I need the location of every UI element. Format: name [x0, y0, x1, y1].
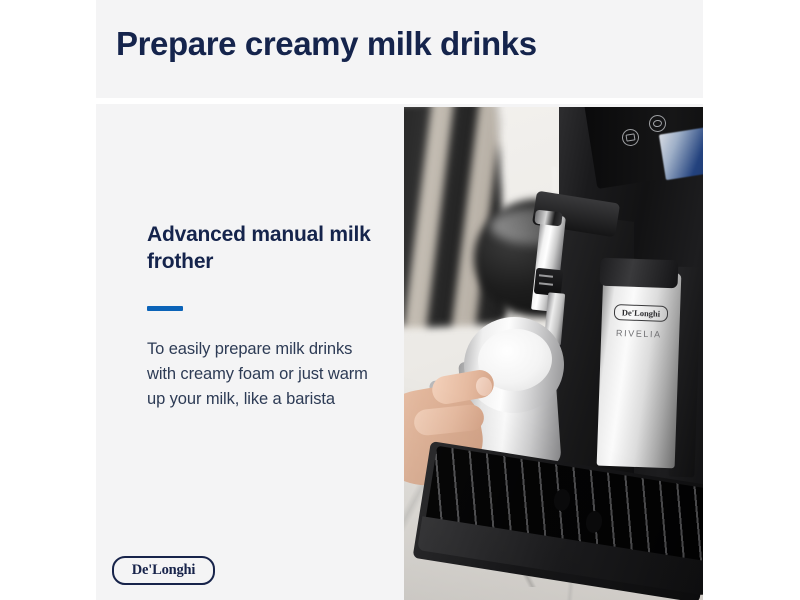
- feature-description: To easily prepare milk drinks with cream…: [147, 337, 382, 412]
- promo-page: Prepare creamy milk drinks Advanced manu…: [0, 0, 800, 600]
- milk-carafe: [597, 271, 682, 469]
- header-band: Prepare creamy milk drinks: [96, 0, 703, 98]
- accent-divider: [147, 306, 183, 311]
- frother-wand-top: [534, 210, 562, 227]
- delonghi-logo: De'Longhi: [112, 556, 215, 585]
- brand-wordmark: De'Longhi: [132, 563, 195, 578]
- machine-model-label: RIVELIA: [616, 328, 676, 340]
- feature-subheading: Advanced manual milk frother: [147, 222, 382, 276]
- feature-text-column: Advanced manual milk frother To easily p…: [147, 222, 382, 412]
- carafe-brand-text: De'Longhi: [622, 308, 661, 318]
- cup-icon-glyph: [626, 133, 636, 141]
- product-photo: De'Longhi RIVELIA: [404, 107, 703, 600]
- page-title: Prepare creamy milk drinks: [116, 25, 537, 63]
- milk-carafe-lid: [600, 258, 679, 289]
- carafe-brand-logo: De'Longhi: [614, 304, 669, 322]
